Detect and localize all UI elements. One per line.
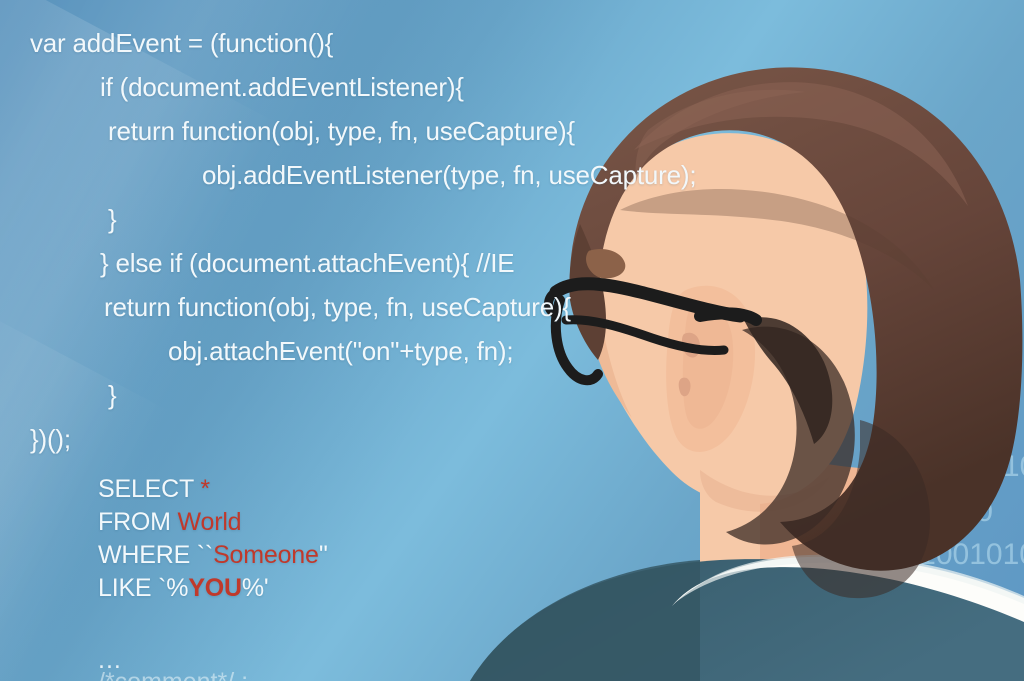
sql-token: World [178,508,242,536]
sql-token: SELECT [98,475,200,503]
sql-token: YOU [188,574,242,602]
sql-trailing-partial-line: /*comment*/ ; [98,670,248,681]
sql-token: %' [242,574,269,602]
sql-line-4: LIKE `%YOU%' [98,576,269,601]
sql-token: WHERE `` [98,541,213,569]
sql-line-1: SELECT * [98,477,210,502]
sql-token: * [200,475,210,503]
sql-line-2: FROM World [98,510,241,535]
sql-line-3: WHERE ``Someone'' [98,543,328,568]
sql-token: Someone [213,541,319,569]
sql-token: LIKE `% [98,574,188,602]
sql-code-block: ... /*comment*/ ; SELECT *FROM WorldWHER… [0,0,1024,681]
illustration-canvas: 01011010101010110011001010010010 [0,0,1024,681]
sql-token: '' [319,541,328,569]
sql-token: FROM [98,508,178,536]
